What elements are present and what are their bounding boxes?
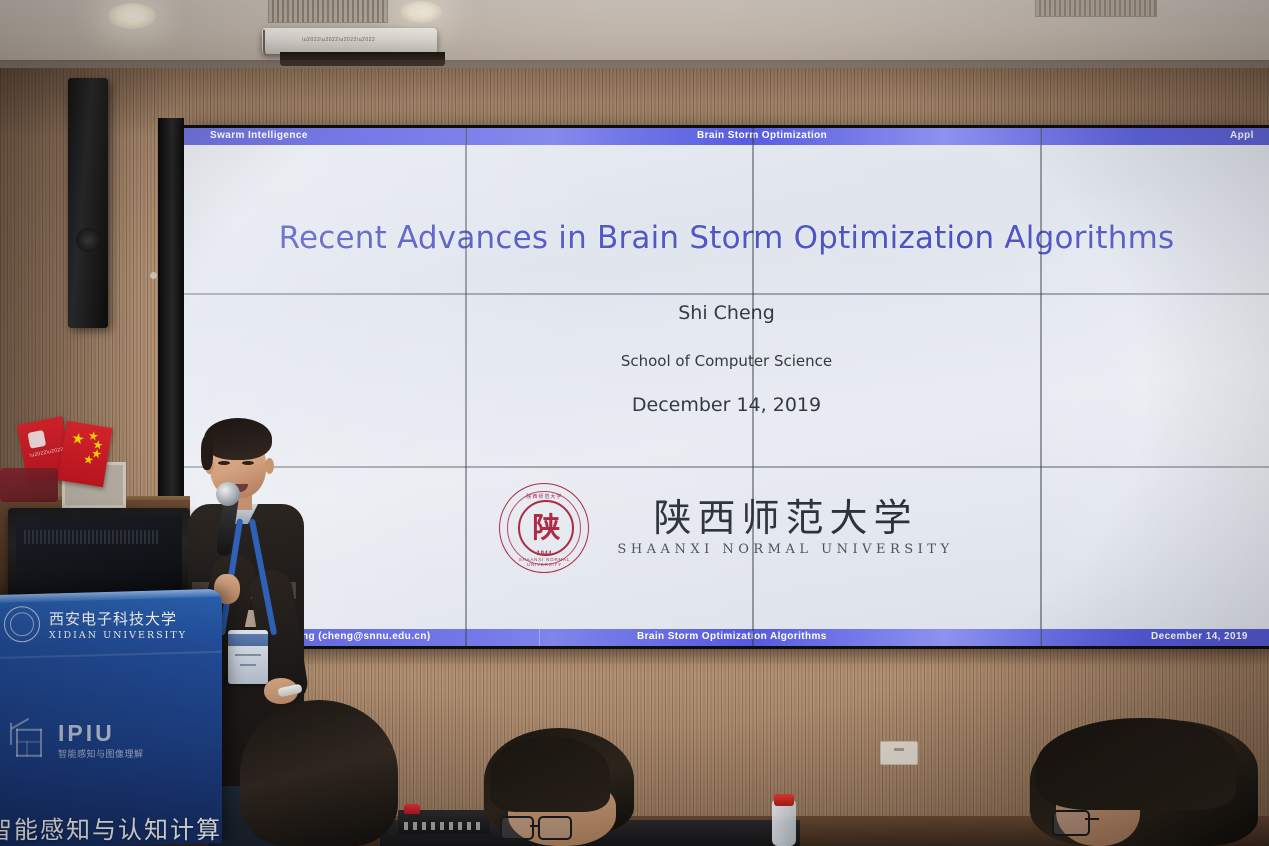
slide-footer-right: December 14, 2019 — [1151, 631, 1248, 642]
slide-header-right: Appl — [1230, 130, 1254, 141]
xidian-university-branding: 西安电子科技大学 XIDIAN UNIVERSITY — [4, 606, 187, 642]
monitor-screen — [16, 515, 182, 592]
glasses-lens-right — [538, 816, 572, 840]
wall-plate-slot — [894, 748, 904, 751]
flag-star-large-icon: ★ — [70, 431, 86, 448]
audience-right-hair-front — [1036, 718, 1236, 810]
name-badge — [228, 630, 268, 684]
slide-author: Shi Cheng — [184, 302, 1269, 324]
slide-date: December 14, 2019 — [184, 394, 1269, 416]
recessed-downlight-icon — [108, 3, 156, 29]
podium-banner-text: 智能感知与认知计算 — [0, 810, 222, 845]
university-name-en: SHAANXI NORMAL UNIVERSITY — [617, 542, 953, 557]
glasses-bridge — [530, 825, 540, 828]
audience-center-hair-front — [490, 736, 610, 812]
loudspeaker-cone-icon — [76, 228, 100, 252]
ipiu-cube-icon — [10, 721, 50, 761]
emergency-button-icon[interactable] — [404, 804, 420, 814]
video-wall-display[interactable]: Swarm Intelligence Brain Storm Optimizat… — [184, 128, 1269, 646]
badge-header — [228, 634, 268, 646]
university-logo: 陕西师范大学 陕 1944 SHAANXI NORMAL UNIVERSITY … — [184, 480, 1269, 576]
glasses-bridge-2 — [1085, 818, 1099, 821]
xidian-name-cn: 西安电子科技大学 — [49, 608, 187, 629]
wall-outlet-plate — [880, 741, 918, 765]
hvac-ceiling-vent-right — [1035, 0, 1157, 17]
seal-arc-top-text: 陕西师范大学 — [500, 493, 588, 500]
ipiu-name-cn: 智能感知与图像理解 — [58, 747, 144, 760]
xidian-name-block: 西安电子科技大学 XIDIAN UNIVERSITY — [49, 608, 187, 641]
xidian-seal-icon — [4, 606, 40, 642]
seal-arc-bottom-text: SHAANXI NORMAL UNIVERSITY — [500, 557, 588, 567]
university-name-block: 陕西师范大学 SHAANXI NORMAL UNIVERSITY — [617, 499, 953, 557]
presenter-ear-right — [265, 458, 274, 474]
panel-seam-vertical-2 — [752, 128, 754, 646]
hvac-ceiling-vent — [268, 0, 388, 23]
slide-header-center: Brain Storm Optimization — [697, 130, 827, 141]
audience-left-hair — [240, 700, 398, 846]
bottle-cap-icon — [774, 794, 794, 806]
slide-title: Recent Advances in Brain Storm Optimizat… — [184, 220, 1269, 256]
lectern-podium: 西安电子科技大学 XIDIAN UNIVERSITY IPIU 智能感知与图像理… — [0, 589, 222, 846]
panel-seam-vertical-1 — [465, 128, 467, 646]
presentation-slide: Swarm Intelligence Brain Storm Optimizat… — [184, 128, 1269, 646]
university-name-cn: 陕西师范大学 — [653, 499, 917, 539]
panel-seam-horizontal-1 — [184, 293, 1269, 295]
roll-up-projection-screen-case: \u2022\u2022\u2022\u2022 — [262, 28, 437, 54]
panel-seam-horizontal-2 — [184, 466, 1269, 468]
glasses-lens-left — [500, 816, 534, 840]
glasses-lens-left-2 — [1052, 810, 1090, 836]
projector-screen-cable — [263, 30, 273, 56]
water-bottle — [772, 800, 796, 846]
slide-institution: School of Computer Science — [184, 352, 1269, 370]
seal-character: 陕 — [532, 514, 560, 542]
footer-separator-1 — [539, 629, 540, 646]
podium-divider — [0, 651, 222, 660]
monitor-screen-reflection — [24, 530, 160, 544]
slide-footer-bar: Shi Cheng (cheng@snnu.edu.cn) Brain Stor… — [184, 629, 1269, 646]
flag-star-4-icon: ★ — [82, 453, 95, 467]
chinese-national-flag: ★ ★ ★ ★ ★ — [58, 421, 113, 487]
recessed-downlight-secondary-icon — [400, 1, 442, 23]
ipiu-lab-branding: IPIU 智能感知与图像理解 — [10, 721, 144, 761]
ipiu-name-block: IPIU 智能感知与图像理解 — [58, 722, 144, 760]
conference-photo-scene: \u2022\u2022\u2022\u2022 Swarm Intellige… — [0, 0, 1269, 846]
xidian-name-en: XIDIAN UNIVERSITY — [49, 630, 187, 641]
wall-light-reflection — [150, 272, 157, 279]
panel-seam-vertical-3 — [1040, 128, 1042, 646]
presenter-hair — [204, 418, 272, 460]
badge-line-2 — [240, 664, 256, 666]
audience-member-right — [1030, 716, 1269, 846]
badge-line-1 — [235, 654, 261, 656]
university-seal-icon: 陕西师范大学 陕 1944 SHAANXI NORMAL UNIVERSITY — [499, 483, 589, 573]
presenter-eye-right — [242, 461, 254, 465]
audience-member-left — [232, 696, 402, 846]
slide-header-left: Swarm Intelligence — [210, 130, 308, 141]
ipiu-abbreviation: IPIU — [58, 722, 144, 745]
flag-emblem-icon — [27, 430, 46, 449]
seal-inner-ring: 陕 — [518, 500, 574, 556]
desk-items — [0, 468, 58, 502]
wall-loudspeaker — [68, 78, 108, 328]
presenter-eye-left — [218, 461, 230, 465]
projector-screen-brand-label: \u2022\u2022\u2022\u2022 — [302, 37, 375, 43]
audience-member-center — [470, 728, 650, 846]
slide-header-bar: Swarm Intelligence Brain Storm Optimizat… — [184, 128, 1269, 145]
microphone-head-icon — [216, 482, 240, 506]
slide-footer-center: Brain Storm Optimization Algorithms — [637, 631, 827, 642]
